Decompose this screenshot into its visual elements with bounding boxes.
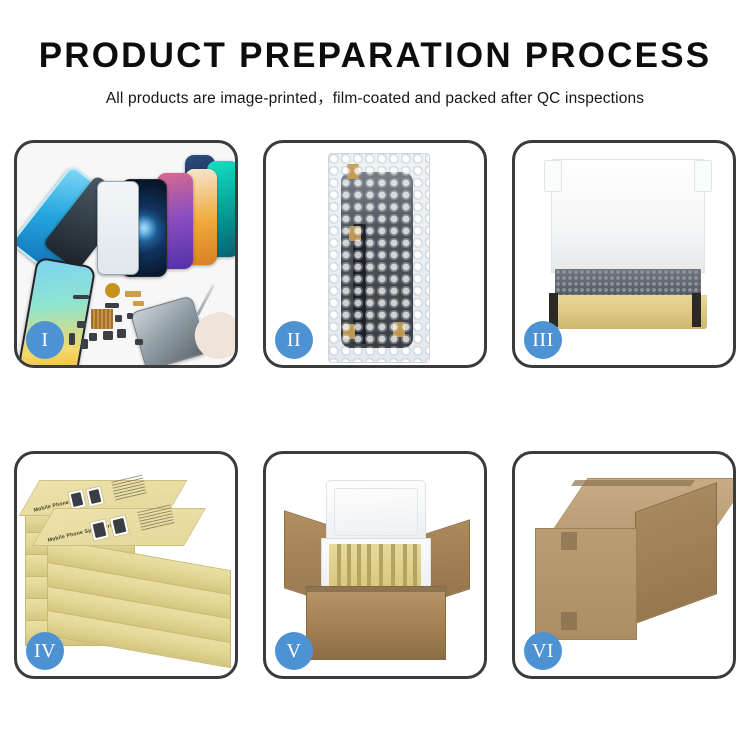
tape-icon xyxy=(349,226,361,241)
step-panel-1[interactable]: I xyxy=(14,140,238,368)
small-part-icon xyxy=(81,339,88,349)
small-part-icon xyxy=(89,333,97,341)
tape-icon xyxy=(393,322,405,337)
page-header: PRODUCT PREPARATION PROCESS All products… xyxy=(0,0,750,108)
step-panel-4[interactable]: Mobile Phone Spare Parts Mobile Phone Sp… xyxy=(14,451,238,679)
step-badge-4: IV xyxy=(26,632,64,670)
foam-lid-icon xyxy=(551,159,705,273)
small-part-icon xyxy=(127,313,133,319)
step-panel-5[interactable]: V xyxy=(263,451,487,679)
inner-boxes-row-icon xyxy=(329,544,421,586)
step-badge-2: II xyxy=(275,321,313,359)
carton-seam-icon xyxy=(571,480,695,486)
carton-front-face-icon xyxy=(535,528,637,640)
kraft-box-front-icon xyxy=(549,295,707,329)
ribbon-cable-icon xyxy=(133,301,144,306)
ribbon-cable-icon xyxy=(125,291,141,297)
small-part-icon xyxy=(69,333,75,345)
step-badge-3: III xyxy=(524,321,562,359)
carton-tab-icon xyxy=(561,612,577,630)
step-panel-2[interactable]: II xyxy=(263,140,487,368)
step-badge-6: VI xyxy=(524,632,562,670)
speaker-part-icon xyxy=(105,283,120,298)
foam-box-lid-icon xyxy=(326,480,426,544)
outer-carton-icon xyxy=(306,586,446,660)
small-part-icon xyxy=(73,295,89,299)
logic-board-icon xyxy=(91,309,113,329)
tape-icon xyxy=(347,164,359,179)
small-part-icon xyxy=(117,329,126,338)
bubble-wrap-bag-icon xyxy=(328,153,430,363)
tape-icon xyxy=(343,324,355,339)
step-panel-6[interactable]: VI xyxy=(512,451,736,679)
small-part-icon xyxy=(103,331,113,340)
small-part-icon xyxy=(115,315,122,322)
dark-foam-padding-icon xyxy=(555,269,701,297)
step-badge-5: V xyxy=(275,632,313,670)
page-title: PRODUCT PREPARATION PROCESS xyxy=(0,38,750,75)
small-part-icon xyxy=(105,303,119,308)
step-panel-3[interactable]: III xyxy=(512,140,736,368)
page-subtitle: All products are image-printed，film-coat… xyxy=(0,86,750,108)
small-part-icon xyxy=(135,339,143,345)
box-tab-right-icon xyxy=(692,293,701,327)
carton-tab-icon xyxy=(561,532,577,550)
process-steps-grid: I II III xyxy=(14,140,736,679)
tweezers-icon xyxy=(196,284,215,315)
step-badge-1: I xyxy=(26,321,64,359)
glass-panel-icon xyxy=(97,181,139,275)
small-part-icon xyxy=(77,321,86,328)
